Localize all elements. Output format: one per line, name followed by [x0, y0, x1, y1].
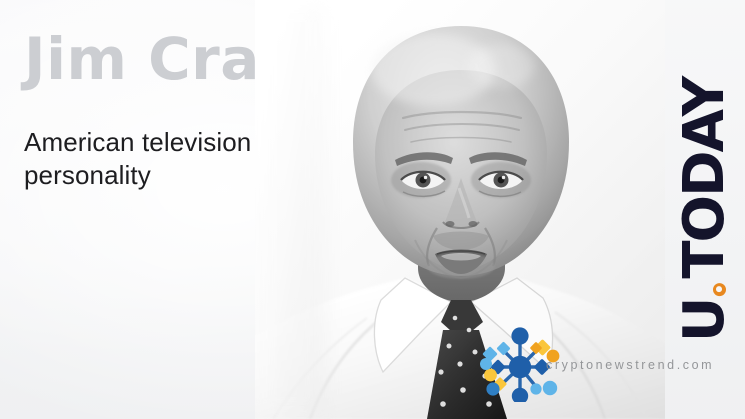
news-card: Jim Cramer	[0, 0, 745, 419]
brand-logo-u: U	[677, 298, 733, 341]
brand-logo-today: TODAY	[677, 77, 733, 278]
orange-dot-icon	[713, 282, 726, 295]
portrait-photo	[255, 0, 665, 419]
watermark-text: cryptonewstrend.com	[546, 358, 714, 372]
subtitle: American television personality	[24, 126, 369, 192]
brand-logo[interactable]: U TODAY	[669, 0, 741, 419]
